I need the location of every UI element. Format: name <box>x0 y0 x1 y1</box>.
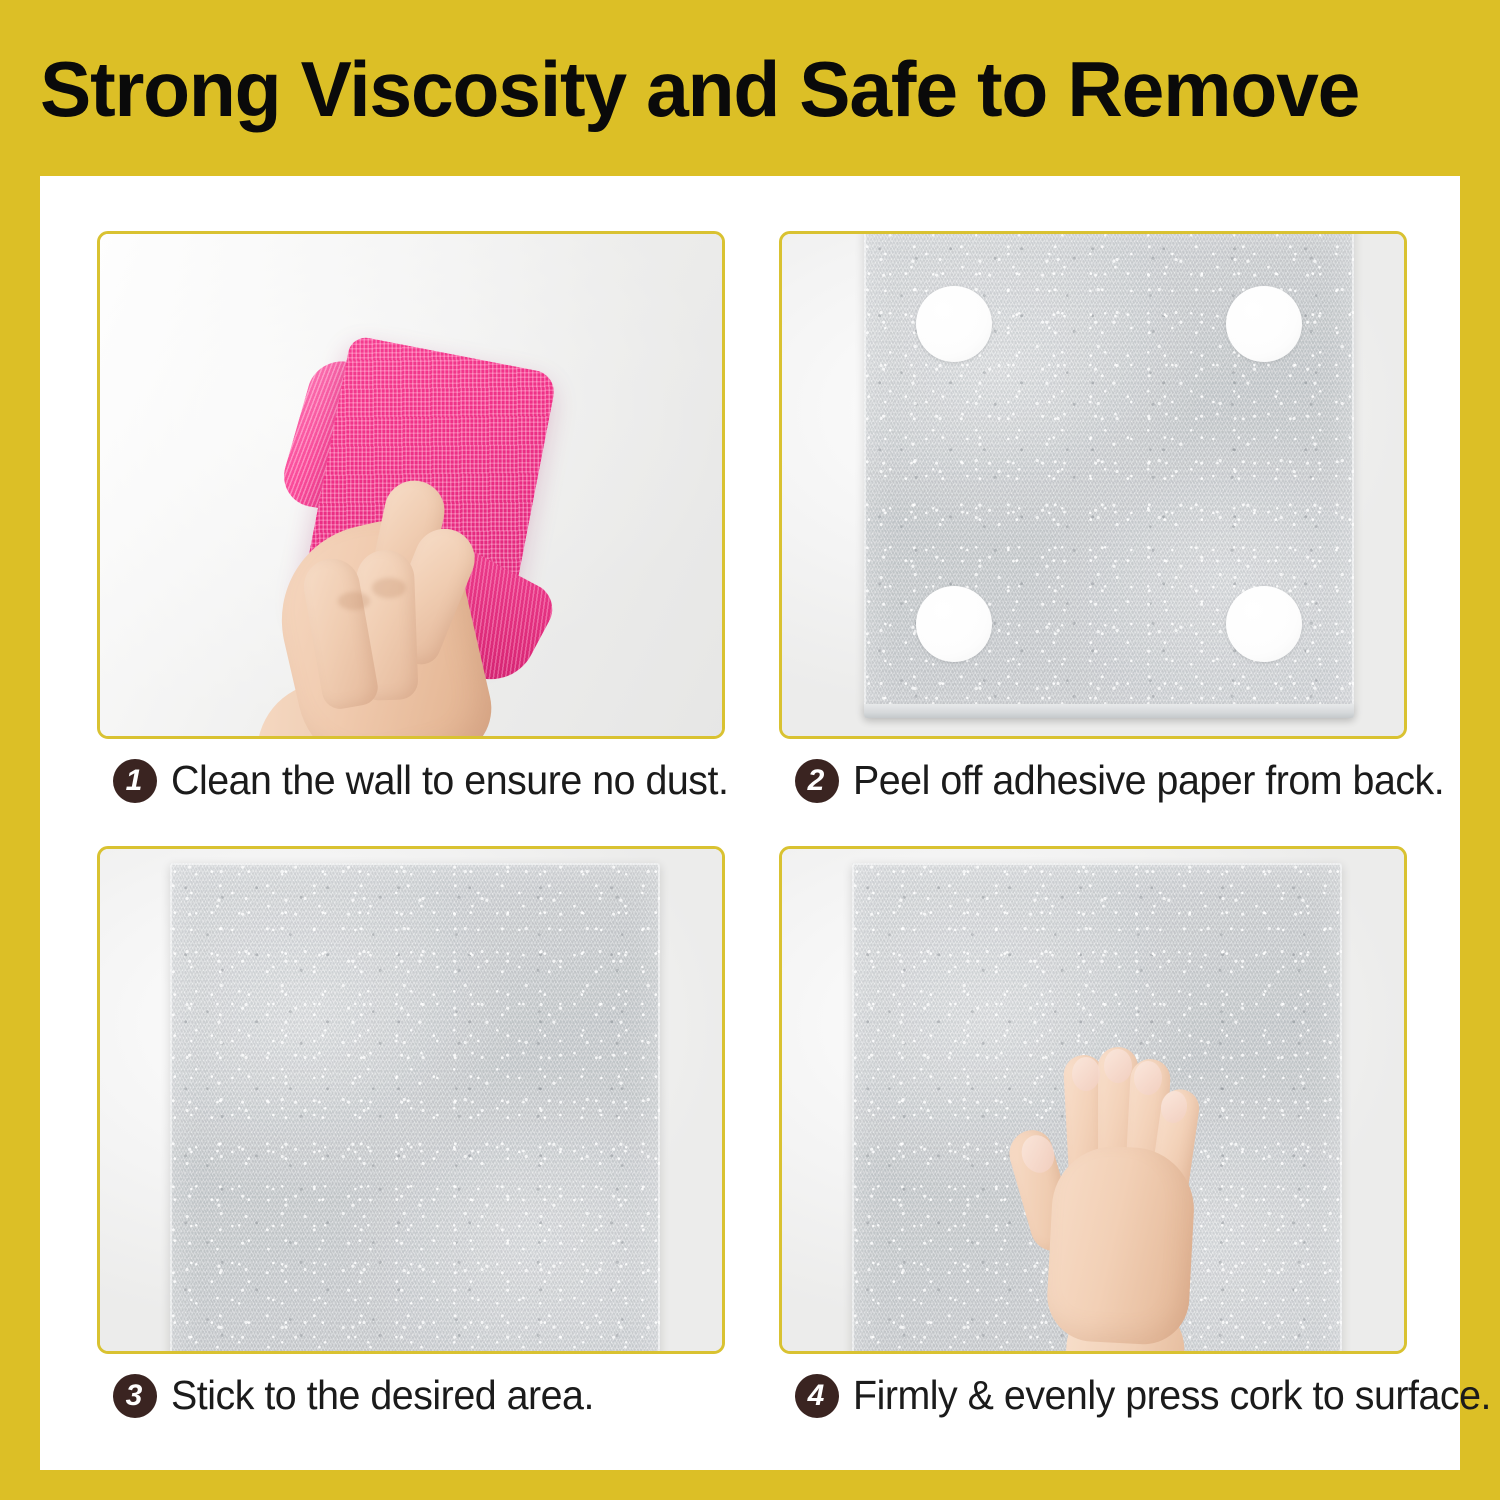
product-infographic-poster: Strong Viscosity and Safe to Remove <box>0 0 1500 1500</box>
step-2-image-frame <box>779 231 1407 739</box>
pressing-hand-icon <box>1014 1031 1224 1354</box>
knuckle-shading <box>372 578 406 598</box>
step-2-caption: 2 Peel off adhesive paper from back. <box>779 757 1407 804</box>
step-item: 2 Peel off adhesive paper from back. <box>779 231 1407 806</box>
step-number-badge: 3 <box>113 1374 157 1418</box>
adhesive-pad-icon <box>916 586 992 662</box>
adhesive-pad-icon <box>1226 586 1302 662</box>
steps-grid: 1 Clean the wall to ensure no dust. 2 <box>97 231 1407 1421</box>
step-caption-text: Clean the wall to ensure no dust. <box>171 757 728 804</box>
step-3-image-frame <box>97 846 725 1354</box>
cork-tile-bottom-edge <box>864 704 1354 718</box>
step-item: 1 Clean the wall to ensure no dust. <box>97 231 725 806</box>
step-1-image-frame <box>97 231 725 739</box>
step-item: 3 Stick to the desired area. <box>97 846 725 1421</box>
fingernail-shape <box>1072 1057 1100 1091</box>
knuckle-shading <box>338 592 370 610</box>
cork-tile-icon <box>170 863 660 1354</box>
step-number-badge: 2 <box>795 759 839 803</box>
step-4-caption: 4 Firmly & evenly press cork to surface. <box>779 1372 1407 1419</box>
step-caption-text: Firmly & evenly press cork to surface. <box>853 1372 1491 1419</box>
adhesive-pad-icon <box>1226 286 1302 362</box>
steps-card: 1 Clean the wall to ensure no dust. 2 <box>40 176 1460 1470</box>
step-1-caption: 1 Clean the wall to ensure no dust. <box>97 757 725 804</box>
step-number-badge: 4 <box>795 1374 839 1418</box>
fingernail-shape <box>1104 1049 1132 1083</box>
step-caption-text: Peel off adhesive paper from back. <box>853 757 1444 804</box>
wiping-hand-icon <box>250 432 500 739</box>
step-3-caption: 3 Stick to the desired area. <box>97 1372 725 1419</box>
step-item: 4 Firmly & evenly press cork to surface. <box>779 846 1407 1421</box>
page-title: Strong Viscosity and Safe to Remove <box>40 36 1449 141</box>
palm-shape <box>1045 1143 1197 1346</box>
step-caption-text: Stick to the desired area. <box>171 1372 594 1419</box>
fingernail-shape <box>1134 1061 1162 1095</box>
adhesive-pad-icon <box>916 286 992 362</box>
step-number-badge: 1 <box>113 759 157 803</box>
step-4-image-frame <box>779 846 1407 1354</box>
